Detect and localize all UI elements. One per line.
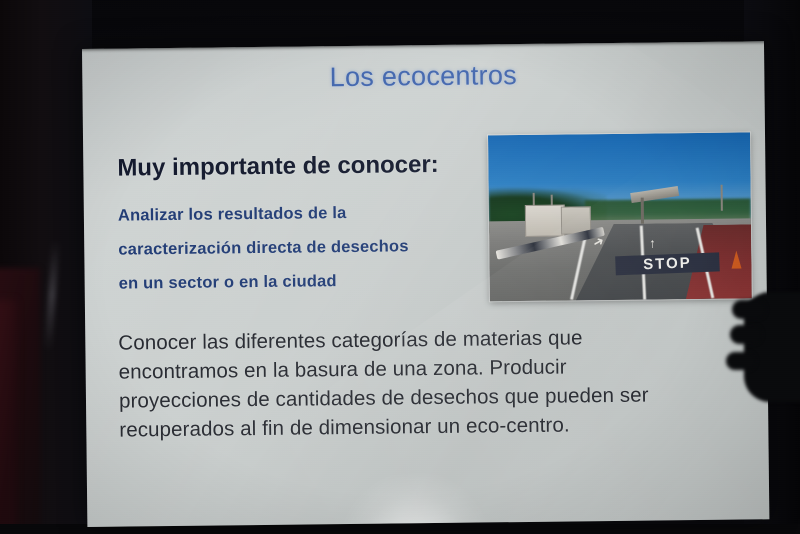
subpoint-line-1: Analizar los resultados de la (118, 194, 518, 233)
finger-silhouette-3 (726, 352, 756, 370)
subpoint-line-2: caracterización directa de desechos (118, 228, 518, 267)
photo-canopy-support (641, 198, 644, 224)
slide-heading: Muy importante de conocer: (117, 150, 517, 183)
slide-body-paragraph: Conocer las diferentes categorías de mat… (118, 321, 767, 444)
finger-silhouette-1 (732, 300, 766, 319)
slide-title: Los ecocentros (82, 57, 764, 96)
screenshot-stage: Los ecocentros Muy importante de conocer… (0, 0, 800, 534)
subpoint-line-3: en un sector o en la ciudad (118, 262, 518, 301)
slide-subpoints: Analizar los resultados de la caracteriz… (118, 194, 519, 301)
photo-guard-booth (525, 205, 565, 237)
slide-photo-ecocentro-entrance: ➜ ↑ STOP (488, 132, 752, 301)
finger-silhouette-2 (730, 325, 762, 344)
photo-road-arrow-up: ↑ (649, 236, 656, 251)
photo-lamp-pole-3 (721, 185, 723, 211)
projection-screen: Los ecocentros Muy importante de conocer… (82, 41, 769, 527)
photo-traffic-cone (731, 251, 741, 269)
presentation-slide: Los ecocentros Muy importante de conocer… (82, 41, 769, 527)
left-dark-red-object-highlight (0, 300, 16, 534)
photo-stop-text: STOP (619, 254, 716, 275)
paragraph-line-4: recuperados al fin de dimensionar un eco… (119, 408, 767, 444)
